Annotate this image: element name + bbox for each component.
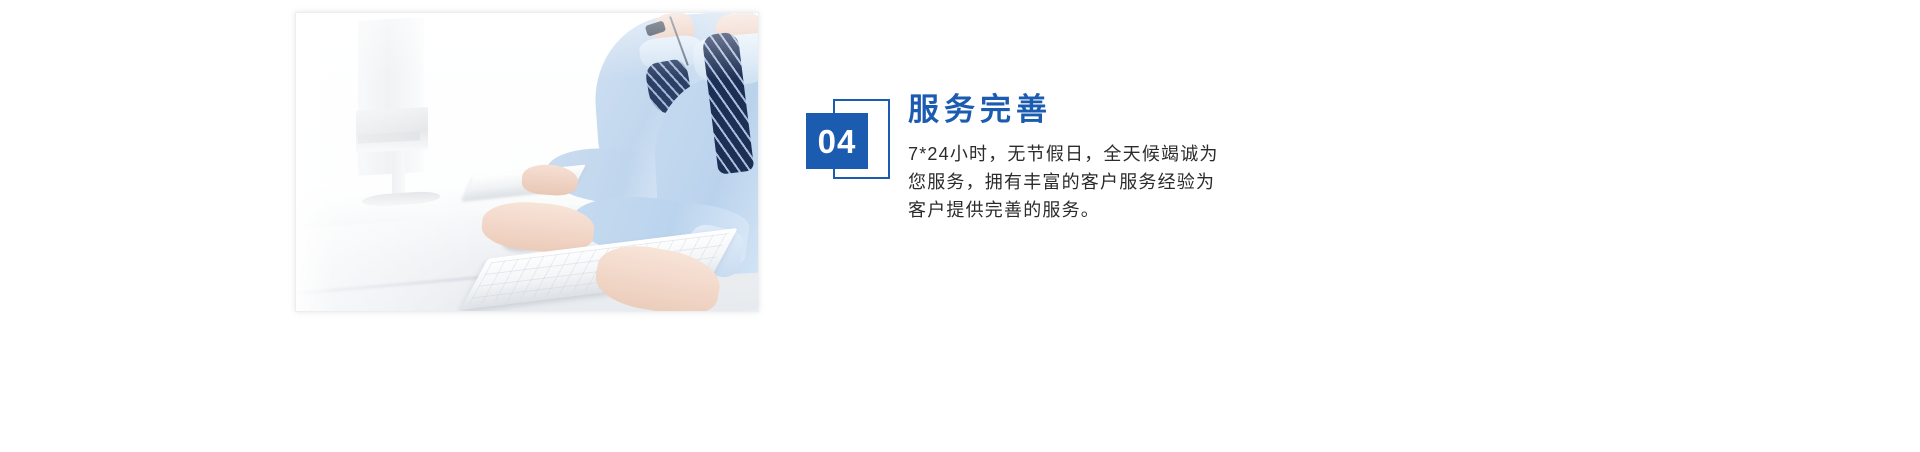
description-line-3: 客户提供完善的服务。 [908,196,1219,224]
feature-photo-frame [295,12,759,312]
feature-text-block: 04 服务完善 7*24小时，无节假日，全天候竭诚为 您服务，拥有丰富的客户服务… [806,92,1426,272]
feature-text-column: 服务完善 7*24小时，无节假日，全天候竭诚为 您服务，拥有丰富的客户服务经验为… [908,92,1219,224]
badge-filled-square: 04 [806,113,868,169]
monitor-stand-base [362,190,440,207]
badge-number-label: 04 [818,125,857,158]
step-number-badge: 04 [806,99,894,185]
feature-heading: 服务完善 [908,92,1219,128]
monitor-bezel [356,107,428,153]
description-line-1: 7*24小时，无节假日，全天候竭诚为 [908,140,1219,168]
service-feature-section: 04 服务完善 7*24小时，无节假日，全天候竭诚为 您服务，拥有丰富的客户服务… [0,0,1920,452]
description-line-2: 您服务，拥有丰富的客户服务经验为 [908,168,1219,196]
monitor-stand-neck [392,153,405,196]
feature-description: 7*24小时，无节假日，全天候竭诚为 您服务，拥有丰富的客户服务经验为 客户提供… [908,140,1219,224]
feature-photo [296,13,758,311]
